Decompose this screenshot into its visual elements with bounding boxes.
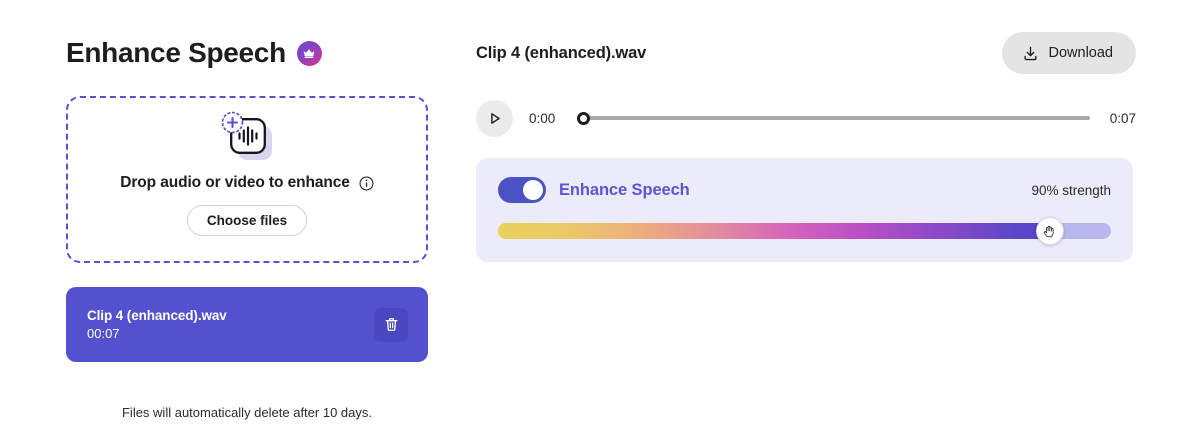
file-name: Clip 4 (enhanced).wav: [87, 308, 227, 323]
add-audio-waveform-icon: [216, 110, 278, 166]
playback-scrubber[interactable]: [577, 109, 1090, 127]
grab-hand-cursor-icon: [1042, 224, 1057, 239]
current-time: 0:00: [529, 111, 561, 126]
crown-icon: [297, 41, 322, 66]
strength-slider[interactable]: [498, 222, 1111, 240]
file-dropzone[interactable]: Drop audio or video to enhance Choose fi…: [66, 96, 428, 263]
preview-header: Clip 4 (enhanced).wav Download: [476, 32, 1136, 74]
slider-thumb[interactable]: [1036, 217, 1064, 245]
slider-fill: [498, 223, 1050, 239]
scrubber-track: [587, 116, 1090, 120]
left-panel: Enhance Speech: [66, 0, 428, 437]
enhance-speech-toggle[interactable]: [498, 177, 546, 203]
retention-note: Files will automatically delete after 10…: [66, 405, 428, 420]
right-panel: Clip 4 (enhanced).wav Download 0:00: [476, 0, 1136, 437]
play-button[interactable]: [476, 100, 513, 137]
list-item[interactable]: Clip 4 (enhanced).wav 00:07: [66, 287, 428, 362]
download-label: Download: [1049, 45, 1114, 61]
enhance-toggle-label: Enhance Speech: [559, 181, 690, 200]
audio-player: 0:00 0:07: [476, 99, 1136, 137]
play-triangle-icon: [486, 110, 503, 127]
file-meta: Clip 4 (enhanced).wav 00:07: [87, 308, 227, 341]
enhance-toggle-group: Enhance Speech: [498, 177, 690, 203]
info-circle-icon[interactable]: [359, 176, 374, 191]
page-title: Enhance Speech: [66, 39, 286, 67]
download-button[interactable]: Download: [1002, 32, 1137, 74]
trash-icon: [383, 316, 400, 333]
dropzone-prompt-row: Drop audio or video to enhance: [120, 174, 374, 192]
file-duration: 00:07: [87, 326, 227, 341]
clip-title: Clip 4 (enhanced).wav: [476, 44, 646, 63]
delete-file-button[interactable]: [374, 308, 408, 342]
dropzone-prompt: Drop audio or video to enhance: [120, 174, 350, 192]
download-icon: [1022, 45, 1039, 62]
toggle-knob: [523, 180, 543, 200]
strength-value: 90% strength: [1031, 183, 1111, 198]
choose-files-button[interactable]: Choose files: [187, 205, 307, 236]
app-header: Enhance Speech: [66, 32, 428, 74]
enhance-panel-header: Enhance Speech 90% strength: [498, 176, 1111, 204]
scrubber-handle[interactable]: [577, 112, 590, 125]
enhance-speech-app: Enhance Speech: [0, 0, 1201, 437]
enhance-speech-panel: Enhance Speech 90% strength: [476, 158, 1133, 262]
total-time: 0:07: [1106, 111, 1136, 126]
